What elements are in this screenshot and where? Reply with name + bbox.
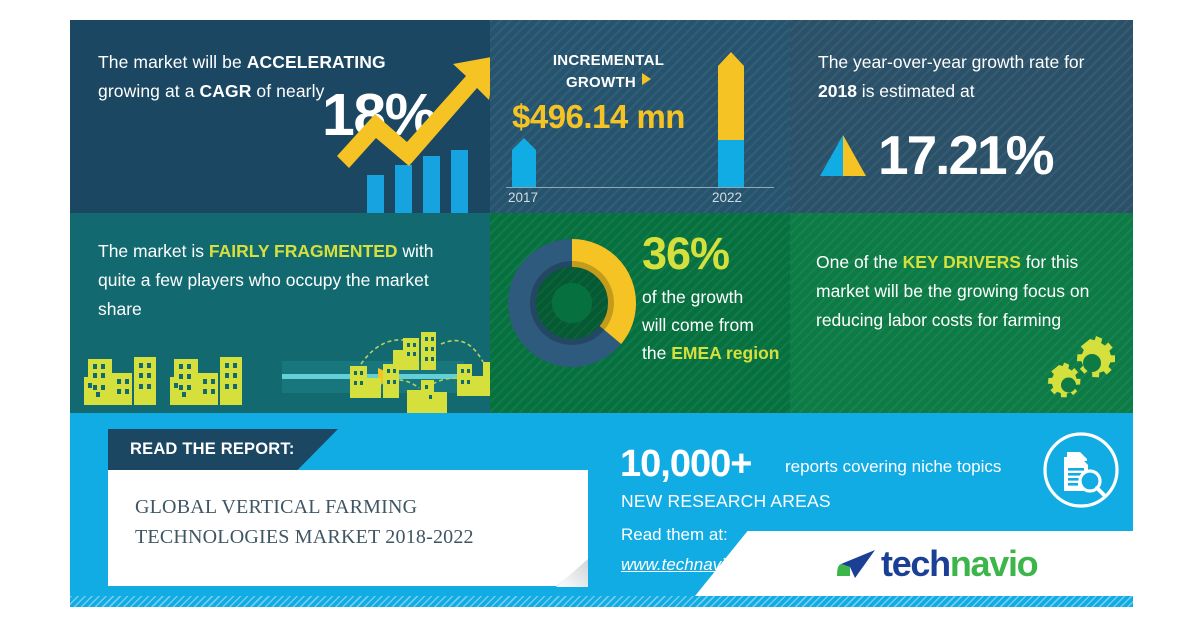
panel-yoy-growth: The year-over-year growth rate for 2018 … [790,20,1133,213]
chart-axis [506,187,774,188]
play-triangle-icon [642,73,651,85]
axis-label-2022: 2022 [712,190,742,205]
reports-count-suffix: reports covering niche topics [785,457,1001,477]
bar-2017-icon [512,138,536,187]
bar-1 [367,175,384,213]
read-the-report-label: READ THE REPORT: [130,440,295,459]
logo-tech: tech [881,543,950,584]
report-title: GLOBAL VERTICAL FARMING TECHNOLOGIES MAR… [135,492,565,552]
incremental-growth-value: $496.14 mn [512,98,685,136]
emea-text: of the growth will come from the EMEA re… [642,283,790,367]
yoy-value-row: 17.21% [818,128,1053,183]
fragmented-text: The market is FAIRLY FRAGMENTED with qui… [98,237,473,324]
incremental-growth-label: INCREMENTAL GROWTH [516,50,701,94]
panel-emea-share: 36% of the growth will come from the EME… [490,213,790,413]
panel-key-drivers: One of the KEY DRIVERS for this market w… [790,213,1133,413]
city-cluster-right-icon [345,318,490,413]
technavio-logo: technavio [835,543,1037,585]
emea-percent: 36% [642,231,729,276]
key-drivers-text: One of the KEY DRIVERS for this market w… [816,248,1116,335]
panel-fragmented: The market is FAIRLY FRAGMENTED with qui… [70,213,490,413]
bar-2022-icon [718,52,744,187]
axis-label-2017: 2017 [508,190,538,205]
footer-hatch-strip [70,596,1133,607]
report-title-card[interactable]: GLOBAL VERTICAL FARMING TECHNOLOGIES MAR… [108,470,588,586]
reports-count: 10,000+ [620,445,751,483]
yoy-text: The year-over-year growth rate for 2018 … [818,48,1108,106]
triangle-up-icon [818,133,868,178]
technavio-wordmark: technavio [881,546,1037,582]
read-the-report-banner: READ THE REPORT: [108,429,338,471]
cagr-bold: CAGR [200,81,252,101]
key-drivers-bold: KEY DRIVERS [903,252,1021,272]
rising-arrow-icon [335,46,490,176]
logo-navio: navio [950,543,1038,584]
yoy-value: 17.21% [878,128,1053,183]
read-them-at-label: Read them at: [621,525,728,545]
gears-icon [1043,335,1115,403]
panel-footer: READ THE REPORT: GLOBAL VERTICAL FARMING… [70,413,1133,607]
emea-region-bold: EMEA region [671,343,779,363]
emea-donut-chart [502,233,642,373]
panel-accelerating: The market will be ACCELERATING growing … [70,20,490,213]
technavio-logo-mark-icon [835,548,877,580]
infographic-body: The market will be ACCELERATING growing … [70,20,1133,607]
fragmented-bold: FAIRLY FRAGMENTED [209,241,398,261]
infographic-canvas: The market will be ACCELERATING growing … [0,0,1200,627]
new-research-areas: NEW RESEARCH AREAS [621,491,831,512]
document-search-icon [1042,431,1120,509]
yoy-year-bold: 2018 [818,81,857,101]
city-cluster-left-icon [82,343,292,405]
panel-incremental-growth: INCREMENTAL GROWTH $496.14 mn 2017 2022 [490,20,790,213]
